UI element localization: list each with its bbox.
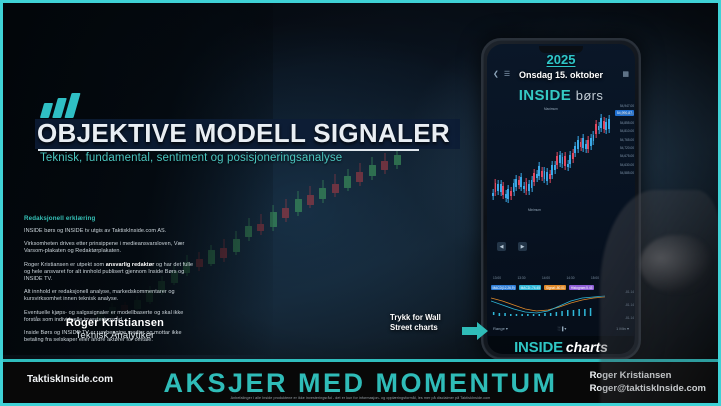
candlestick bbox=[502, 106, 504, 214]
candlestick bbox=[569, 106, 571, 214]
taktisk-inside-bars-logo bbox=[42, 92, 88, 118]
price-axis-label: 54,855.00 bbox=[620, 121, 634, 125]
signature-role: Teknisk Analytiker bbox=[40, 330, 190, 341]
candlestick bbox=[551, 106, 553, 214]
time-axis-label: 13:00 bbox=[493, 276, 501, 280]
candlestick bbox=[515, 106, 517, 214]
candlestick bbox=[582, 106, 584, 214]
candlestick bbox=[572, 106, 574, 214]
signature-name: Roger Kristiansen bbox=[40, 317, 190, 329]
charts-banner-primary: INSIDE bbox=[514, 339, 563, 355]
candlestick bbox=[505, 106, 507, 214]
candlestick bbox=[541, 106, 543, 214]
macd-legend-item: Signal:-80.01 bbox=[544, 285, 566, 290]
macd-oscillator bbox=[491, 292, 605, 318]
price-candlestick-chart[interactable]: Maximum Minimum bbox=[490, 106, 601, 214]
macd-legend: MACD(12,26,9)MACD:-74.45Signal:-80.01His… bbox=[491, 285, 605, 290]
time-axis-label: 14:00 bbox=[542, 276, 550, 280]
time-axis-labels: 13:0013:3014:0014:3015:00 bbox=[493, 276, 599, 280]
candlestick bbox=[590, 106, 592, 214]
candlestick bbox=[528, 106, 530, 214]
editorial-paragraph: Roger Kristiansen er utpekt som ansvarli… bbox=[24, 262, 196, 284]
candlestick bbox=[567, 106, 569, 214]
candlestick bbox=[533, 106, 535, 214]
candlestick bbox=[536, 106, 538, 214]
price-axis-label: 54,947.00 bbox=[620, 104, 634, 108]
page-title: OBJEKTIVE MODELL SIGNALER bbox=[37, 118, 462, 149]
candlestick-icon[interactable]: ░▐ ▾ bbox=[558, 326, 567, 331]
headline-underline bbox=[38, 149, 419, 151]
candlestick bbox=[518, 106, 520, 214]
macd-legend-item: MACD(12,26,9) bbox=[491, 285, 516, 290]
candlestick bbox=[556, 106, 558, 214]
page-subtitle: Teknisk, fundamental, sentiment og posis… bbox=[40, 152, 460, 164]
candlestick bbox=[520, 106, 522, 214]
macd-legend-item: Histogram:5.43 bbox=[569, 285, 594, 290]
candlestick bbox=[523, 106, 525, 214]
candlestick bbox=[595, 106, 597, 214]
year-label: 2025 bbox=[487, 52, 635, 67]
editorial-paragraph: INSIDE børs og INSIDE tv utgis av Taktis… bbox=[24, 228, 196, 235]
time-axis-label: 13:30 bbox=[518, 276, 526, 280]
candlestick bbox=[497, 106, 499, 214]
phone-notch bbox=[539, 46, 583, 53]
candlestick bbox=[585, 106, 587, 214]
price-axis-label: 54,900.00 bbox=[620, 112, 634, 116]
editorial-heading: Redaksjonell erklæring bbox=[24, 215, 196, 222]
editorial-paragraph: Virksomheten drives etter prinsippene i … bbox=[24, 241, 196, 255]
arrow-right-icon bbox=[462, 322, 488, 340]
candlestick bbox=[580, 106, 582, 214]
candlestick bbox=[526, 106, 528, 214]
candlestick bbox=[538, 106, 540, 214]
candlestick bbox=[510, 106, 512, 214]
range-selector[interactable]: Range ▾ bbox=[493, 326, 508, 331]
candlestick bbox=[587, 106, 589, 214]
price-axis-label: 54,630.00 bbox=[620, 163, 634, 167]
hand-holding-phone bbox=[600, 190, 720, 406]
signature-block: Roger Kristiansen Teknisk Analytiker bbox=[40, 317, 190, 341]
chart-prev-icon[interactable]: ◀ bbox=[497, 242, 506, 251]
thumb bbox=[640, 235, 710, 293]
date-label: Onsdag 15. oktober bbox=[487, 70, 635, 80]
price-axis-label: 54,585.00 bbox=[620, 171, 634, 175]
chart-nav-arrows[interactable]: ◀ ▶ bbox=[497, 242, 527, 251]
poster-canvas: OBJEKTIVE MODELL SIGNALER Teknisk, funda… bbox=[0, 0, 721, 406]
macd-legend-item: MACD:-74.45 bbox=[519, 285, 541, 290]
price-axis-label: 54,810.00 bbox=[620, 129, 634, 133]
time-axis-label: 15:00 bbox=[591, 276, 599, 280]
candlestick bbox=[546, 106, 548, 214]
candlestick bbox=[513, 106, 515, 214]
app-brand: INSIDE børs bbox=[487, 87, 635, 104]
app-brand-secondary: børs bbox=[576, 88, 604, 103]
candlestick bbox=[544, 106, 546, 214]
candlestick bbox=[500, 106, 502, 214]
candlestick bbox=[554, 106, 556, 214]
callout-text: Trykk for Wall Street charts bbox=[390, 313, 462, 332]
price-axis-label: 54,675.00 bbox=[620, 154, 634, 158]
candlestick bbox=[507, 106, 509, 214]
app-brand-primary: INSIDE bbox=[519, 87, 571, 104]
price-axis-label: 54,720.00 bbox=[620, 146, 634, 150]
candlestick bbox=[577, 106, 579, 214]
candlestick bbox=[495, 106, 497, 214]
candlestick bbox=[562, 106, 564, 214]
candlestick bbox=[492, 106, 494, 214]
chart-next-icon[interactable]: ▶ bbox=[518, 242, 527, 251]
time-axis-label: 14:30 bbox=[567, 276, 575, 280]
candlestick bbox=[564, 106, 566, 214]
candlestick bbox=[574, 106, 576, 214]
price-axis-labels: 54,947.0054,900.0054,855.0054,810.0054,7… bbox=[600, 104, 634, 175]
candlestick bbox=[549, 106, 551, 214]
candlestick bbox=[593, 106, 595, 214]
editorial-paragraph: Alt innhold er redaksjonell analyse, mar… bbox=[24, 289, 196, 303]
candlestick bbox=[531, 106, 533, 214]
candlestick bbox=[559, 106, 561, 214]
price-axis-label: 54,765.00 bbox=[620, 138, 634, 142]
